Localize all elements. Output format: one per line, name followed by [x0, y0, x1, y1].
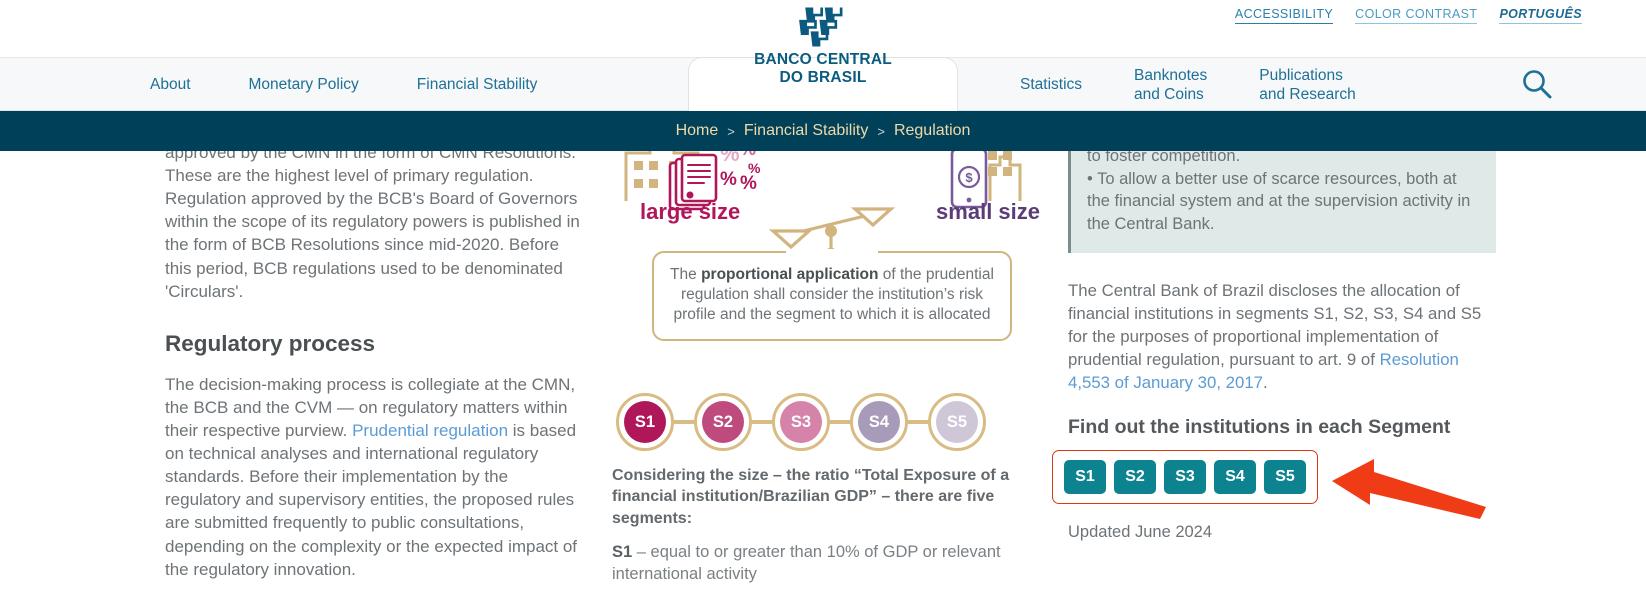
segment-button-s5[interactable]: S5	[1264, 460, 1306, 494]
svg-text:%: %	[720, 169, 737, 190]
segment-node-s3: S3	[772, 393, 830, 451]
segment-connector	[908, 420, 928, 424]
breadcrumb-item-regulation[interactable]: Regulation	[894, 122, 971, 140]
infographic-callout: The proportional application of the prud…	[652, 251, 1012, 341]
breadcrumb-item-financial-stability[interactable]: Financial Stability	[744, 122, 869, 140]
nav-item-publications-and-research[interactable]: Publications and Research	[1259, 66, 1356, 105]
svg-text:%: %	[740, 173, 757, 194]
infographic-top: % % % %%	[612, 139, 1052, 387]
nav-item-about[interactable]: About	[150, 75, 191, 94]
search-icon[interactable]	[1520, 67, 1554, 101]
nav-items-left: About Monetary Policy Financial Stabilit…	[150, 58, 537, 112]
utility-links: ACCESSIBILITY COLOR CONTRAST PORTUGUÊS	[1235, 7, 1582, 24]
segments-intro-text: Considering the size – the ratio “Total …	[612, 465, 1052, 529]
callout-bullet-2: • To allow a better use of scarce resour…	[1087, 168, 1478, 235]
breadcrumb-separator: >	[877, 124, 885, 139]
nav-item-financial-stability[interactable]: Financial Stability	[417, 75, 538, 94]
segment-node-label: S3	[780, 401, 822, 443]
logo-text-line1: BANCO CENTRAL	[723, 51, 923, 69]
svg-text:$: $	[965, 170, 973, 185]
logo-text: BANCO CENTRAL DO BRASIL	[723, 51, 923, 87]
segment-node-label: S5	[936, 401, 978, 443]
breadcrumb-item-home[interactable]: Home	[676, 122, 719, 140]
middle-column: % % % %%	[612, 139, 1052, 586]
right-column: • To reduce entry barriers in the system…	[1068, 139, 1496, 542]
breadcrumb-separator: >	[727, 124, 735, 139]
regulatory-process-paragraph: The decision-making process is collegiat…	[165, 373, 583, 581]
breadcrumb: Home > Financial Stability > Regulation	[0, 111, 1646, 151]
segment-buttons-group: S1 S2 S3 S4 S5	[1064, 460, 1306, 494]
proportionality-infographic: % % % %%	[612, 139, 1052, 451]
color-contrast-link[interactable]: COLOR CONTRAST	[1355, 7, 1477, 24]
language-link[interactable]: PORTUGUÊS	[1499, 7, 1582, 24]
infographic-label-large-size: large size	[640, 199, 740, 225]
segment-node-label: S2	[702, 401, 744, 443]
nav-item-statistics[interactable]: Statistics	[1020, 75, 1082, 94]
segment-connector	[752, 420, 772, 424]
segment-node-label: S4	[858, 401, 900, 443]
segment-button-s4[interactable]: S4	[1214, 460, 1256, 494]
paragraph-part-b: is based on technical analyses and inter…	[165, 421, 577, 579]
segment-button-s3[interactable]: S3	[1164, 460, 1206, 494]
segment-node-s5: S5	[928, 393, 986, 451]
callout-text-bold: proportional application	[701, 266, 878, 283]
segment-button-s1[interactable]: S1	[1064, 460, 1106, 494]
allocation-paragraph: The Central Bank of Brazil discloses the…	[1068, 279, 1496, 394]
find-institutions-heading: Find out the institutions in each Segmen…	[1068, 416, 1496, 439]
breadcrumb-list: Home > Financial Stability > Regulation	[676, 122, 971, 140]
page-root: ACCESSIBILITY COLOR CONTRAST PORTUGUÊS B…	[0, 0, 1646, 616]
segment-s1-definition: S1 – equal to or greater than 10% of GDP…	[612, 542, 1052, 586]
segment-node-s1: S1	[616, 393, 674, 451]
site-logo[interactable]: BANCO CENTRAL DO BRASIL	[723, 4, 923, 87]
segment-connector	[674, 420, 694, 424]
updated-date: Updated June 2024	[1068, 523, 1496, 542]
logo-text-line2: DO BRASIL	[723, 69, 923, 87]
nav-item-monetary-policy[interactable]: Monetary Policy	[249, 75, 359, 94]
segment-chain: S1 S2 S3 S4 S5	[612, 393, 1052, 451]
segment-node-s4: S4	[850, 393, 908, 451]
segment-node-label: S1	[624, 401, 666, 443]
accessibility-link[interactable]: ACCESSIBILITY	[1235, 7, 1333, 24]
bcb-emblem-icon	[723, 4, 923, 50]
segment-button-s2[interactable]: S2	[1114, 460, 1156, 494]
nav-item-banknotes-and-coins[interactable]: Banknotes and Coins	[1134, 66, 1207, 105]
left-column: approved by the CMN in the form of CMN R…	[165, 141, 583, 581]
segment-s1-text: – equal to or greater than 10% of GDP or…	[612, 543, 1001, 583]
allocation-text-b: .	[1263, 373, 1268, 392]
prudential-regulation-link[interactable]: Prudential regulation	[352, 421, 508, 440]
regulation-paragraph: approved by the CMN in the form of CMN R…	[165, 141, 583, 303]
nav-items-right: Statistics Banknotes and Coins Publicati…	[1020, 58, 1356, 112]
segment-node-s2: S2	[694, 393, 752, 451]
segment-buttons-annotation-box: S1 S2 S3 S4 S5	[1052, 450, 1318, 504]
page-section-heading: Regulatory process	[165, 331, 583, 357]
segment-s1-label: S1	[612, 543, 632, 561]
segment-connector	[830, 420, 850, 424]
callout-text-a: The	[670, 266, 701, 283]
callout-notch	[786, 249, 878, 255]
infographic-label-small-size: small size	[936, 199, 1040, 225]
page-content: approved by the CMN in the form of CMN R…	[0, 151, 1646, 616]
